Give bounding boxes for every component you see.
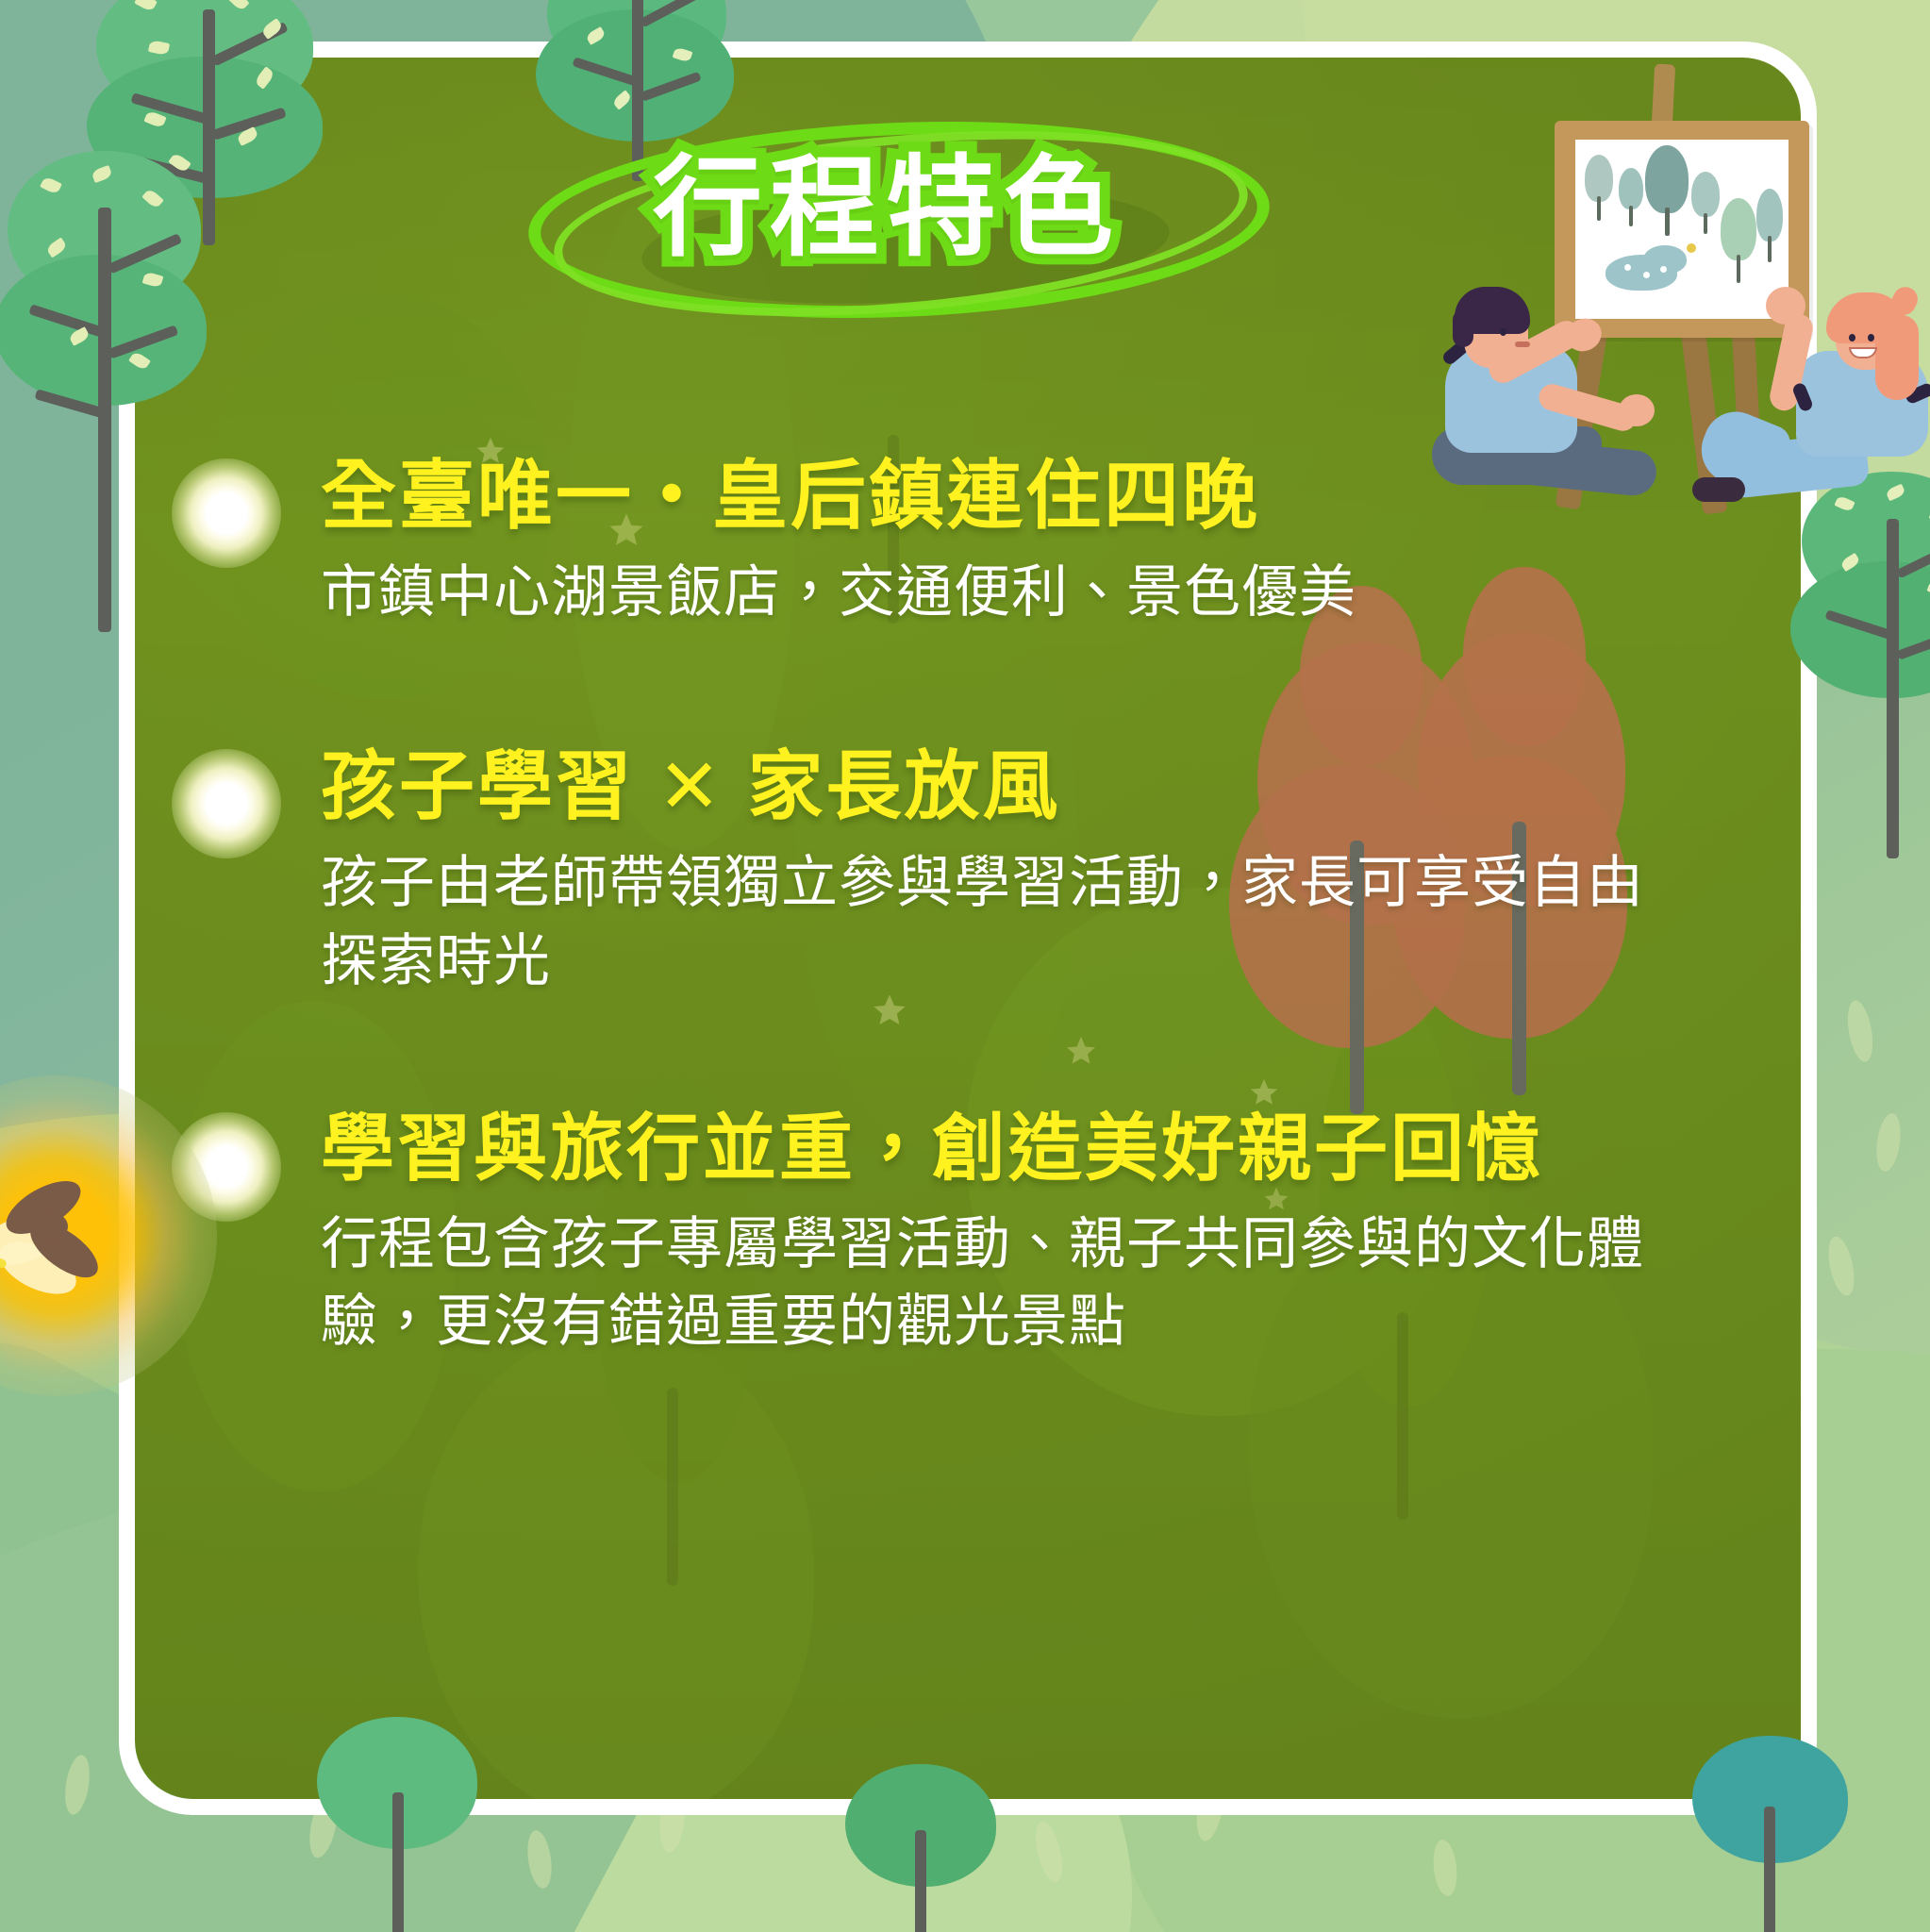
decor-tree-green	[830, 1764, 1019, 1932]
feature-item: 學習與旅行並重，創造美好親子回憶 行程包含孩子專屬學習活動、親子共同參與的文化體…	[189, 1107, 1736, 1362]
painted-flower	[1660, 266, 1667, 273]
decor-tree-green	[1789, 472, 1930, 868]
title-block: 行程特色	[528, 123, 1245, 311]
painted-tree	[1641, 145, 1692, 236]
painted-tree	[1583, 155, 1615, 221]
painted-flower	[1643, 272, 1650, 278]
painted-bee	[1687, 243, 1696, 253]
firefly-head	[38, 1213, 68, 1240]
glow-dot-icon	[172, 749, 281, 858]
girl-hair	[1875, 315, 1919, 400]
decor-tree-green	[1679, 1736, 1868, 1932]
feature-list: 全臺唯一・皇后鎮連住四晚 市鎮中心湖景飯店，交通便利、景色優美 孩子學習 ✕ 家…	[189, 453, 1736, 1424]
boy-hair	[1453, 309, 1473, 347]
feature-body: 行程包含孩子專屬學習活動、親子共同參與的文化體驗，更沒有錯過重要的觀光景點	[321, 1206, 1679, 1362]
poster-stage: 行程特色 全臺唯一・皇后鎮連住四晚 市鎮中心湖景飯店，交通便利、景色優美 孩子學…	[0, 0, 1930, 1932]
decor-tree-green	[302, 1717, 500, 1932]
boy-mouth	[1515, 341, 1530, 347]
boy-figure	[1424, 292, 1679, 519]
feature-body: 市鎮中心湖景飯店，交通便利、景色優美	[321, 554, 1717, 632]
page-title: 行程特色	[528, 145, 1245, 271]
feature-heading: 孩子學習 ✕ 家長放風	[321, 743, 1736, 829]
girl-figure	[1698, 292, 1930, 528]
feature-item: 孩子學習 ✕ 家長放風 孩子由老師帶領獨立參與學習活動，家長可享受自由探索時光	[189, 743, 1736, 1001]
girl-hand	[1766, 287, 1805, 325]
painted-flower	[1624, 264, 1631, 271]
feature-heading: 學習與旅行並重，創造美好親子回憶	[321, 1107, 1736, 1191]
girl-shoe	[1692, 477, 1745, 502]
feature-body: 孩子由老師帶領獨立參與學習活動，家長可享受自由探索時光	[321, 844, 1660, 1001]
firefly-icon	[0, 1075, 217, 1396]
boy-hand	[1619, 394, 1655, 426]
boy-eye	[1500, 328, 1506, 336]
illustration-kids-painting	[1415, 57, 1930, 528]
painted-tree	[1755, 189, 1787, 262]
girl-eye	[1868, 334, 1874, 341]
glow-dot-icon	[172, 458, 281, 568]
girl-eye	[1849, 334, 1855, 341]
